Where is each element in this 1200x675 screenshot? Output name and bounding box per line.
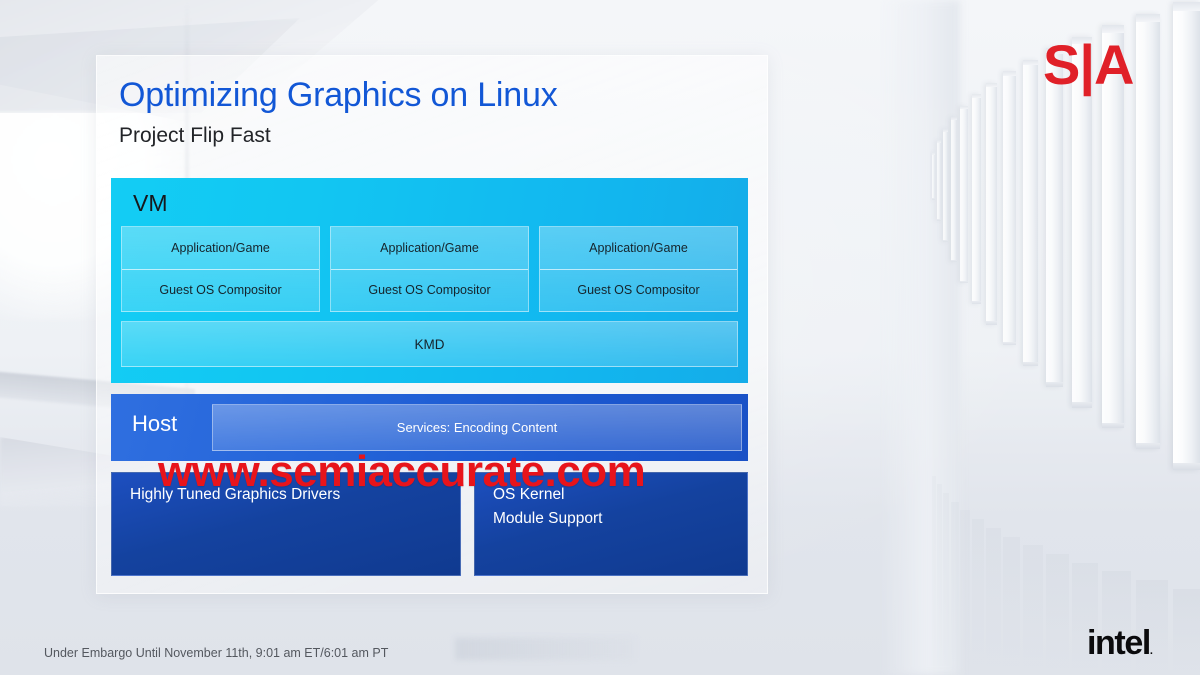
slide-canvas: Optimizing Graphics on Linux Project Fli… xyxy=(0,0,1200,675)
column-base xyxy=(960,281,968,283)
column xyxy=(1023,60,1038,366)
intel-logo: intel. xyxy=(1087,626,1153,660)
column-capital xyxy=(960,106,968,109)
column xyxy=(1003,71,1016,345)
embargo-notice: Under Embargo Until November 11th, 9:01 … xyxy=(44,646,388,660)
vm-application-columns: Application/Game Guest OS Compositor App… xyxy=(121,226,738,312)
column-base xyxy=(1003,342,1016,346)
column-shadow xyxy=(1046,554,1069,675)
intel-logo-text: intel xyxy=(1087,624,1150,662)
kmd-bar: KMD xyxy=(121,321,738,367)
column-capital xyxy=(1173,2,1200,11)
vm-block: VM Application/Game Guest OS Compositor … xyxy=(111,178,748,383)
column-base xyxy=(1072,402,1092,407)
column-capital xyxy=(932,152,935,155)
column-capital xyxy=(951,117,957,120)
column-base xyxy=(937,219,941,221)
column-capital xyxy=(937,140,941,143)
column-base xyxy=(1173,463,1200,470)
vm-block-label: VM xyxy=(133,190,168,217)
column xyxy=(1173,2,1200,470)
column xyxy=(960,106,968,283)
column-capital xyxy=(986,83,997,87)
column xyxy=(932,152,935,200)
column-shadow xyxy=(932,476,936,675)
column-capital xyxy=(1023,60,1038,66)
column-shadow xyxy=(986,528,1001,675)
box-line-2: Module Support xyxy=(493,507,729,531)
column-capital xyxy=(1136,14,1161,22)
column-shadow xyxy=(1173,589,1200,675)
column-capital xyxy=(1102,25,1124,33)
column-shadow xyxy=(943,493,949,675)
column-shadow xyxy=(960,510,970,675)
column-base xyxy=(1046,382,1063,387)
compositor-cell: Guest OS Compositor xyxy=(122,270,319,312)
site-watermark: www.semiaccurate.com xyxy=(158,447,645,497)
column xyxy=(972,94,981,304)
column xyxy=(937,140,941,220)
column-base xyxy=(951,260,957,262)
column-base xyxy=(943,240,948,242)
page-subtitle: Project Flip Fast xyxy=(119,124,271,148)
column-base xyxy=(1136,443,1161,449)
column-shadow xyxy=(1003,537,1020,675)
column-base xyxy=(986,321,997,324)
column-base xyxy=(1102,423,1124,429)
column xyxy=(1046,48,1063,387)
column-capital xyxy=(943,129,948,132)
column-base xyxy=(972,301,981,304)
column-shadow xyxy=(937,484,942,675)
vm-column: Application/Game Guest OS Compositor xyxy=(539,226,738,312)
column-shadow xyxy=(951,502,959,675)
column-base xyxy=(1023,362,1038,366)
column-shadow xyxy=(1023,545,1043,675)
column xyxy=(986,83,997,325)
host-block-label: Host xyxy=(132,411,177,437)
compositor-cell: Guest OS Compositor xyxy=(540,270,737,312)
services-bar: Services: Encoding Content xyxy=(212,404,742,451)
intel-logo-mark: . xyxy=(1150,645,1153,657)
column-colonnade xyxy=(930,0,1200,675)
column-capital xyxy=(972,94,981,97)
semiaccurate-logo: S|A xyxy=(1043,37,1133,93)
vm-column: Application/Game Guest OS Compositor xyxy=(121,226,320,312)
column xyxy=(1136,14,1161,450)
application-cell: Application/Game xyxy=(331,227,528,270)
column-capital xyxy=(1003,71,1016,76)
vm-column: Application/Game Guest OS Compositor xyxy=(330,226,529,312)
footer-blur-patch xyxy=(455,638,635,660)
application-cell: Application/Game xyxy=(540,227,737,270)
application-cell: Application/Game xyxy=(122,227,319,270)
compositor-cell: Guest OS Compositor xyxy=(331,270,528,312)
page-title: Optimizing Graphics on Linux xyxy=(119,76,558,115)
column xyxy=(951,117,957,262)
column-base xyxy=(932,198,935,200)
column xyxy=(943,129,948,242)
column-shadow xyxy=(972,519,984,675)
